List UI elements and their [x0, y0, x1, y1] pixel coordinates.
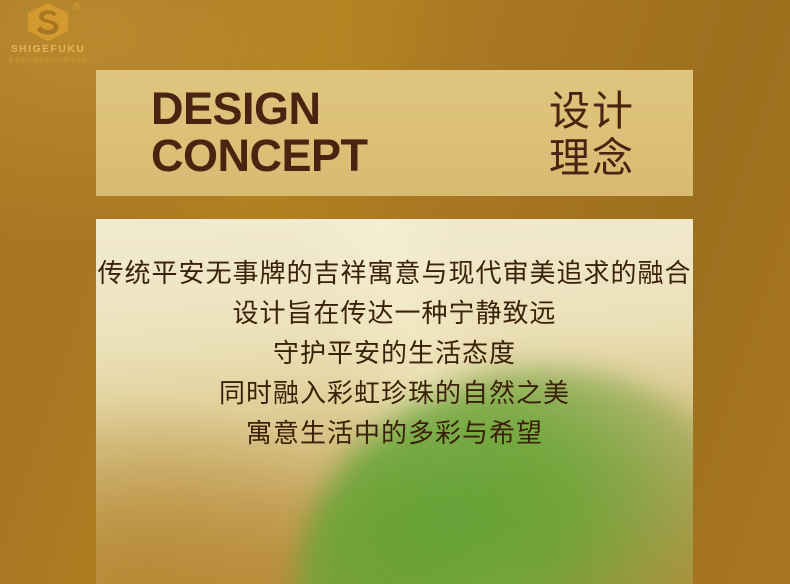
concept-line: 守护平安的生活态度: [96, 334, 693, 374]
design-concept-poster: ® SHIGEFUKU 香港周六福黄金钻石首饰集团 DESIGN CONCEPT…: [0, 0, 790, 584]
header-chinese-line2: 理念: [549, 135, 635, 182]
brand-name: SHIGEFUKU: [0, 43, 96, 55]
hexagon-s-monogram-icon: ®: [25, 2, 71, 42]
concept-line: 寓意生活中的多彩与希望: [96, 414, 693, 454]
concept-description: 传统平安无事牌的吉祥寓意与现代审美追求的融合 设计旨在传达一种宁静致远 守护平安…: [96, 219, 693, 454]
concept-line: 同时融入彩虹珍珠的自然之美: [96, 374, 693, 414]
brand-subtitle: 香港周六福黄金钻石首饰集团: [2, 57, 94, 66]
header-english-title: DESIGN CONCEPT: [151, 85, 368, 179]
header-english-line2: CONCEPT: [151, 132, 368, 179]
header-chinese-line1: 设计: [549, 88, 635, 134]
header-band: DESIGN CONCEPT 设计 理念: [96, 70, 693, 196]
concept-line: 设计旨在传达一种宁静致远: [96, 294, 693, 334]
concept-line: 传统平安无事牌的吉祥寓意与现代审美追求的融合: [96, 254, 693, 294]
registered-trademark-icon: ®: [73, 2, 80, 11]
concept-body-panel: 传统平安无事牌的吉祥寓意与现代审美追求的融合 设计旨在传达一种宁静致远 守护平安…: [96, 219, 693, 584]
header-chinese-title: 设计 理念: [549, 88, 635, 182]
header-english-line1: DESIGN: [151, 83, 321, 134]
brand-logo: ® SHIGEFUKU 香港周六福黄金钻石首饰集团: [0, 0, 96, 70]
